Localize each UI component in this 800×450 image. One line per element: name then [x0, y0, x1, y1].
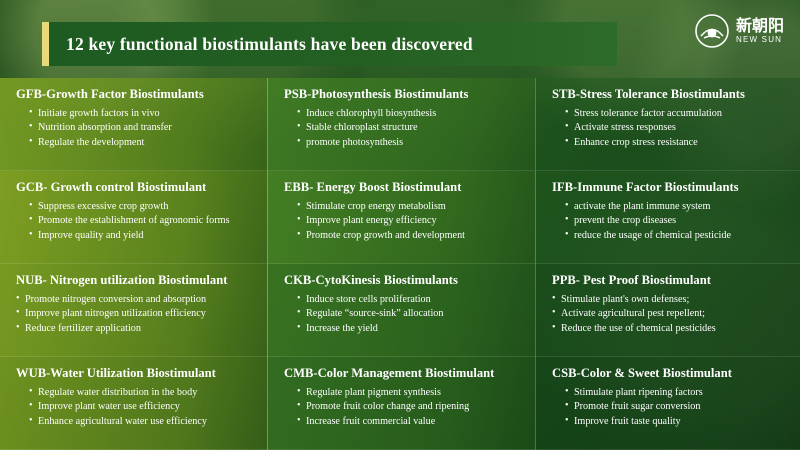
- list-item: Stimulate plant ripening factors: [565, 386, 788, 400]
- card-bullets: Initiate growth factors in vivo Nutritio…: [16, 107, 255, 150]
- card-title: PSB-Photosynthesis Biostimulants: [284, 87, 523, 102]
- list-item: Stable chloroplast structure: [297, 121, 523, 135]
- title-banner: 12 key functional biostimulants have bee…: [42, 22, 617, 66]
- card-bullets: Induce chlorophyll biosynthesis Stable c…: [284, 107, 523, 150]
- card-title: CMB-Color Management Biostimulant: [284, 366, 523, 381]
- list-item: Improve plant water use efficiency: [29, 400, 255, 414]
- list-item: Improve plant energy efficiency: [297, 214, 523, 228]
- list-item: Improve plant nitrogen utilization effic…: [16, 307, 255, 321]
- logo-english-name: NEW SUN: [736, 35, 784, 44]
- list-item: Induce chlorophyll biosynthesis: [297, 107, 523, 121]
- card-bullets: Suppress excessive crop growth Promote t…: [16, 200, 255, 243]
- card-title: WUB-Water Utilization Biostimulant: [16, 366, 255, 381]
- card-gfb: GFB-Growth Factor Biostimulants Initiate…: [0, 78, 268, 171]
- list-item: Promote nitrogen conversion and absorpti…: [16, 293, 255, 307]
- list-item: Increase the yield: [297, 322, 523, 336]
- list-item: Stress tolerance factor accumulation: [565, 107, 788, 121]
- page-title: 12 key functional biostimulants have bee…: [49, 34, 473, 55]
- card-title: EBB- Energy Boost Biostimulant: [284, 180, 523, 195]
- list-item: Improve quality and yield: [29, 229, 255, 243]
- list-item: reduce the usage of chemical pesticide: [565, 229, 788, 243]
- card-ppb: PPB- Pest Proof Biostimulant Stimulate p…: [536, 264, 800, 357]
- card-csb: CSB-Color & Sweet Biostimulant Stimulate…: [536, 357, 800, 450]
- card-title: PPB- Pest Proof Biostimulant: [552, 273, 788, 288]
- card-title: CSB-Color & Sweet Biostimulant: [552, 366, 788, 381]
- logo-chinese-name: 新朝阳: [736, 18, 784, 35]
- card-bullets: Stimulate plant ripening factors Promote…: [552, 386, 788, 429]
- card-title: IFB-Immune Factor Biostimulants: [552, 180, 788, 195]
- card-bullets: Stress tolerance factor accumulation Act…: [552, 107, 788, 150]
- card-ckb: CKB-CytoKinesis Biostimulants Induce sto…: [268, 264, 536, 357]
- card-title: NUB- Nitrogen utilization Biostimulant: [16, 273, 255, 288]
- list-item: Promote the establishment of agronomic f…: [29, 214, 255, 228]
- list-item: Regulate the development: [29, 136, 255, 150]
- list-item: Nutrition absorption and transfer: [29, 121, 255, 135]
- card-title: CKB-CytoKinesis Biostimulants: [284, 273, 523, 288]
- card-bullets: Stimulate plant's own defenses; Activate…: [552, 293, 788, 336]
- sun-leaf-logo-icon: [695, 14, 729, 48]
- list-item: Promote fruit color change and ripening: [297, 400, 523, 414]
- list-item: Regulate water distribution in the body: [29, 386, 255, 400]
- card-nub: NUB- Nitrogen utilization Biostimulant P…: [0, 264, 268, 357]
- card-stb: STB-Stress Tolerance Biostimulants Stres…: [536, 78, 800, 171]
- list-item: Stimulate plant's own defenses;: [552, 293, 788, 307]
- list-item: activate the plant immune system: [565, 200, 788, 214]
- list-item: Activate stress responses: [565, 121, 788, 135]
- card-cmb: CMB-Color Management Biostimulant Regula…: [268, 357, 536, 450]
- card-psb: PSB-Photosynthesis Biostimulants Induce …: [268, 78, 536, 171]
- list-item: Increase fruit commercial value: [297, 415, 523, 429]
- card-bullets: Regulate water distribution in the body …: [16, 386, 255, 429]
- card-gcb: GCB- Growth control Biostimulant Suppres…: [0, 171, 268, 264]
- list-item: Reduce the use of chemical pesticides: [552, 322, 788, 336]
- list-item: Promote crop growth and development: [297, 229, 523, 243]
- card-title: GFB-Growth Factor Biostimulants: [16, 87, 255, 102]
- list-item: Enhance crop stress resistance: [565, 136, 788, 150]
- card-bullets: activate the plant immune system prevent…: [552, 200, 788, 243]
- list-item: Initiate growth factors in vivo: [29, 107, 255, 121]
- card-title: GCB- Growth control Biostimulant: [16, 180, 255, 195]
- card-ifb: IFB-Immune Factor Biostimulants activate…: [536, 171, 800, 264]
- card-ebb: EBB- Energy Boost Biostimulant Stimulate…: [268, 171, 536, 264]
- card-title: STB-Stress Tolerance Biostimulants: [552, 87, 788, 102]
- list-item: Regulate “source-sink” allocation: [297, 307, 523, 321]
- list-item: Stimulate crop energy metabolism: [297, 200, 523, 214]
- list-item: Suppress excessive crop growth: [29, 200, 255, 214]
- card-wub: WUB-Water Utilization Biostimulant Regul…: [0, 357, 268, 450]
- list-item: prevent the crop diseases: [565, 214, 788, 228]
- card-bullets: Stimulate crop energy metabolism Improve…: [284, 200, 523, 243]
- list-item: Induce store cells proliferation: [297, 293, 523, 307]
- card-bullets: Regulate plant pigment synthesis Promote…: [284, 386, 523, 429]
- list-item: Improve fruit taste quality: [565, 415, 788, 429]
- card-bullets: Promote nitrogen conversion and absorpti…: [16, 293, 255, 336]
- slide-stage: 12 key functional biostimulants have bee…: [0, 0, 800, 450]
- list-item: promote photosynthesis: [297, 136, 523, 150]
- card-bullets: Induce store cells proliferation Regulat…: [284, 293, 523, 336]
- biostimulant-card-grid: GFB-Growth Factor Biostimulants Initiate…: [0, 78, 800, 450]
- list-item: Reduce fertilizer application: [16, 322, 255, 336]
- list-item: Enhance agricultural water use efficienc…: [29, 415, 255, 429]
- list-item: Activate agricultural pest repellent;: [552, 307, 788, 321]
- list-item: Regulate plant pigment synthesis: [297, 386, 523, 400]
- brand-logo: 新朝阳 NEW SUN: [695, 14, 784, 48]
- title-accent-bar: [42, 22, 49, 66]
- list-item: Promote fruit sugar conversion: [565, 400, 788, 414]
